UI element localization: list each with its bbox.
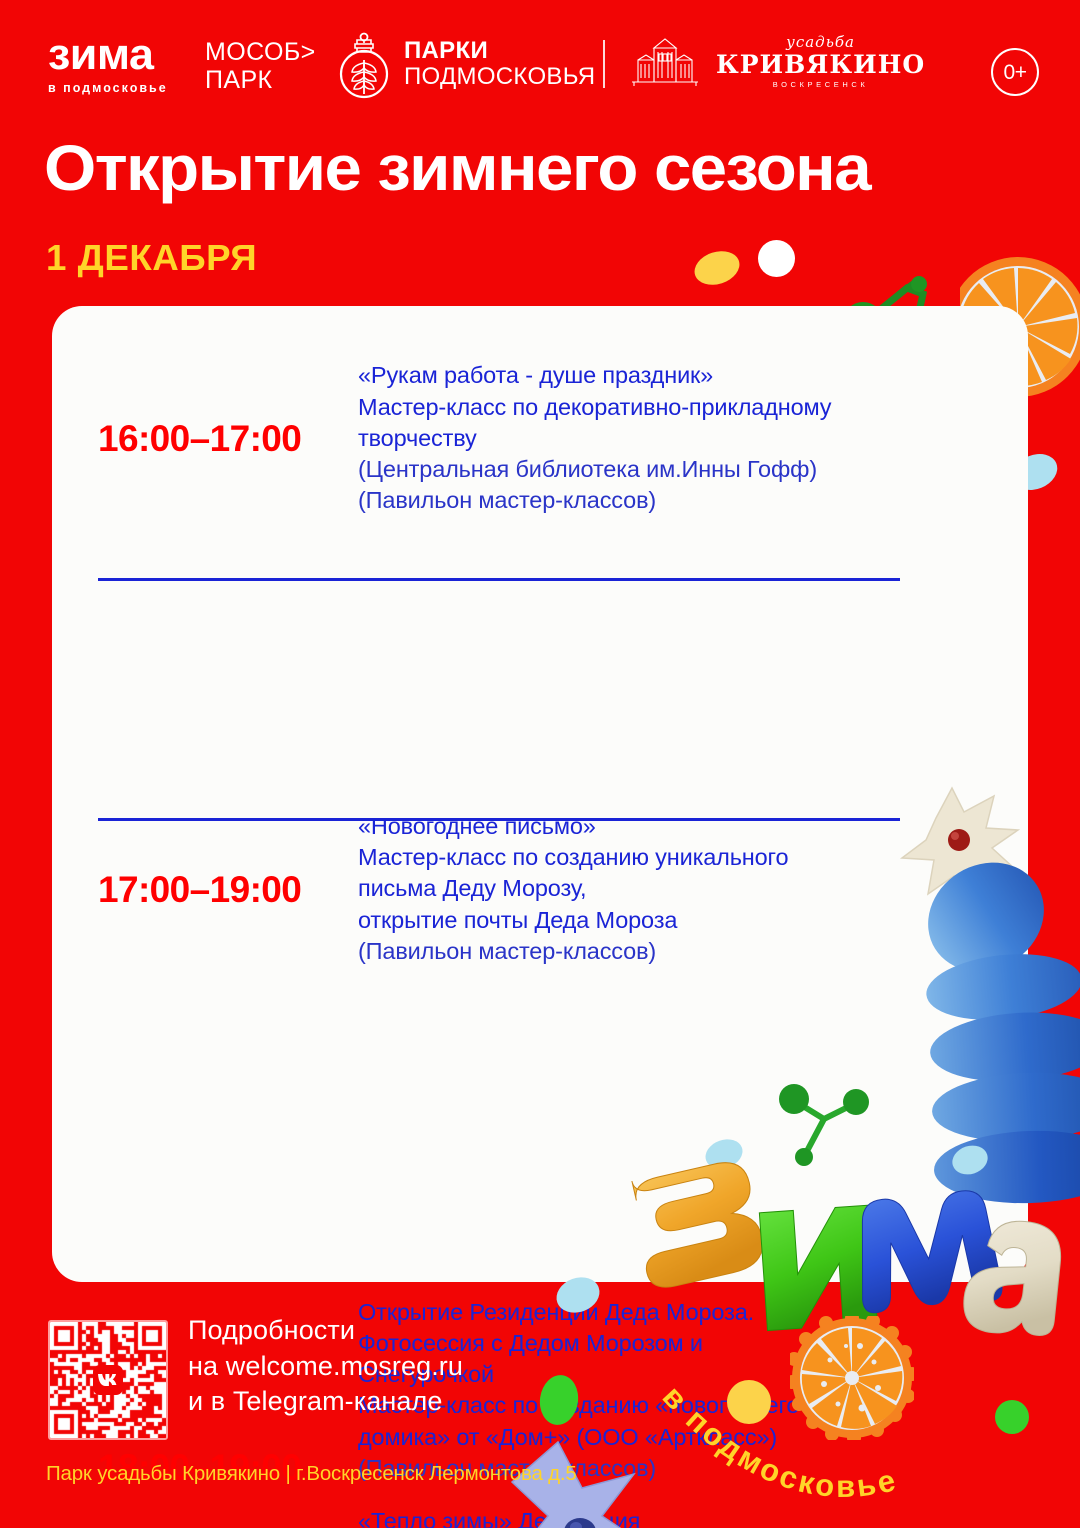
logo-krivyakino-script: усадьба bbox=[716, 35, 925, 50]
schedule-time: 18:00–19:00 bbox=[98, 1449, 358, 1528]
schedule-row: 16:00–17:00 «Рукам работа - душе праздни… bbox=[52, 326, 1028, 551]
schedule-line: Мастер-класс по декоративно-прикладному bbox=[358, 392, 980, 423]
event-date: 1 ДЕКАБРЯ bbox=[46, 240, 257, 276]
vk-glyph-icon bbox=[97, 1373, 119, 1387]
logo-zima-word: зима bbox=[48, 33, 201, 77]
schedule-line: (Павильон мастер-классов) bbox=[358, 485, 980, 516]
green-berries-decoration-2 bbox=[768, 1075, 878, 1167]
svg-text:в подмосковье: в подмосковье bbox=[656, 1380, 902, 1504]
v-podmoskovye-label: в подмосковье bbox=[656, 1380, 902, 1504]
schedule-description: «Рукам работа - душе праздник» Мастер-кл… bbox=[358, 360, 980, 516]
venue-address: Парк усадьбы Кривякино | г.Воскресенск Л… bbox=[46, 1464, 577, 1485]
logo-krivyakino-name: КРИВЯКИНО bbox=[716, 52, 925, 77]
logo-parki-podmoskovya: ПАРКИ ПОДМОСКОВЬЯ bbox=[335, 28, 595, 100]
logo-mosobpark-line2: ПАРК bbox=[205, 66, 316, 94]
vk-qr-code[interactable] bbox=[48, 1320, 168, 1440]
logo-zima-subtitle: в подмосковье bbox=[48, 82, 198, 95]
schedule-line: «Рукам работа - душе праздник» bbox=[358, 360, 980, 391]
manor-building-icon bbox=[630, 34, 700, 89]
christmas-bauble-icon bbox=[335, 28, 393, 100]
age-rating-badge: 0+ bbox=[991, 48, 1039, 96]
white-circle-decoration bbox=[758, 240, 795, 277]
logo-zima-v-podmoskovye: зима в подмосковье bbox=[48, 33, 198, 95]
schedule-line: творчеству bbox=[358, 423, 980, 454]
logo-krivyakino-sub: ВОСКРЕСЕНСК bbox=[716, 81, 925, 89]
page-title: Открытие зимнего сезона bbox=[44, 136, 1080, 200]
logo-mosobpark-line1: МОСОБ> bbox=[205, 38, 316, 66]
schedule-divider bbox=[98, 818, 900, 821]
logo-mosobpark: МОСОБ> ПАРК bbox=[205, 38, 316, 94]
poster-root: зима в подмосковье МОСОБ> ПАРК ПАРКИ ПОД… bbox=[0, 0, 1080, 1528]
schedule-line: (Центральная библиотека им.Инны Гофф) bbox=[358, 454, 980, 485]
logo-parki-line2: ПОДМОСКОВЬЯ bbox=[404, 64, 595, 90]
details-line-1: Подробности bbox=[188, 1313, 463, 1349]
vk-icon bbox=[93, 1365, 123, 1395]
logo-parki-line1: ПАРКИ bbox=[404, 38, 595, 64]
schedule-time: 17:00–19:00 bbox=[98, 871, 358, 908]
details-line-2: на welcome.mosreg.ru bbox=[188, 1349, 463, 1385]
schedule-time: 16:00–17:00 bbox=[98, 420, 358, 457]
logo-krivyakino: усадьба КРИВЯКИНО ВОСКРЕСЕНСК bbox=[630, 34, 925, 89]
schedule-divider bbox=[98, 578, 900, 581]
yellow-ellipse-decoration bbox=[690, 246, 744, 291]
details-text: Подробности на welcome.mosreg.ru и в Tel… bbox=[188, 1313, 463, 1420]
letter-i bbox=[759, 1205, 877, 1330]
knitted-christmas-tree-decoration bbox=[866, 782, 1080, 1212]
v-podmoskovye-curved-text: в подмосковье bbox=[638, 1380, 998, 1528]
letter-z bbox=[626, 1158, 768, 1292]
header-logo-bar: зима в подмосковье МОСОБ> ПАРК ПАРКИ ПОД… bbox=[0, 0, 1080, 120]
header-divider bbox=[603, 40, 605, 88]
details-line-3: и в Telegram-канале bbox=[188, 1384, 463, 1420]
